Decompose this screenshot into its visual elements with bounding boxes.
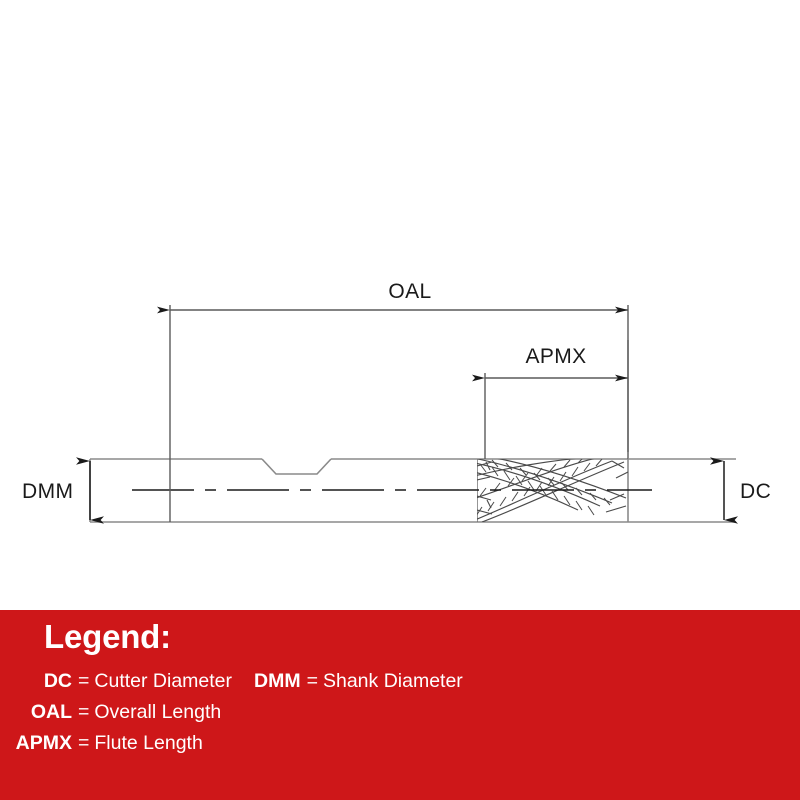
- dmm-label: DMM: [22, 480, 73, 503]
- legend-equals: =: [307, 670, 323, 693]
- oal-label: OAL: [388, 280, 431, 303]
- legend-entry-apmx: APMX = Flute Length: [0, 732, 203, 755]
- legend-desc-oal: Overall Length: [94, 701, 221, 724]
- legend-rows: DC = Cutter Diameter DMM = Shank Diamete…: [0, 670, 800, 763]
- legend-row: APMX = Flute Length: [0, 732, 800, 763]
- dc-label: DC: [740, 480, 771, 503]
- legend-entry-dmm: DMM = Shank Diameter: [254, 670, 463, 693]
- legend-heading: Legend:: [44, 620, 171, 653]
- apmx-label: APMX: [525, 345, 586, 368]
- legend-row: DC = Cutter Diameter DMM = Shank Diamete…: [0, 670, 800, 701]
- legend-abbr-oal: OAL: [0, 701, 78, 724]
- legend-entry-oal: OAL = Overall Length: [0, 701, 221, 724]
- legend-abbr-apmx: APMX: [0, 732, 78, 755]
- legend-abbr-dmm: DMM: [254, 670, 307, 693]
- legend-band: Legend: DC = Cutter Diameter DMM = Shank…: [0, 610, 800, 800]
- legend-equals: =: [78, 670, 94, 693]
- legend-desc-apmx: Flute Length: [94, 732, 202, 755]
- legend-desc-dmm: Shank Diameter: [323, 670, 463, 693]
- legend-entry-dc: DC = Cutter Diameter: [0, 670, 232, 693]
- end-mill-drawing: OAL APMX DMM DC: [0, 0, 800, 610]
- legend-row: OAL = Overall Length: [0, 701, 800, 732]
- legend-abbr-dc: DC: [0, 670, 78, 693]
- legend-equals: =: [78, 701, 94, 724]
- technical-drawing-area: OAL APMX DMM DC: [0, 0, 800, 610]
- legend-equals: =: [78, 732, 94, 755]
- legend-desc-dc: Cutter Diameter: [94, 670, 232, 693]
